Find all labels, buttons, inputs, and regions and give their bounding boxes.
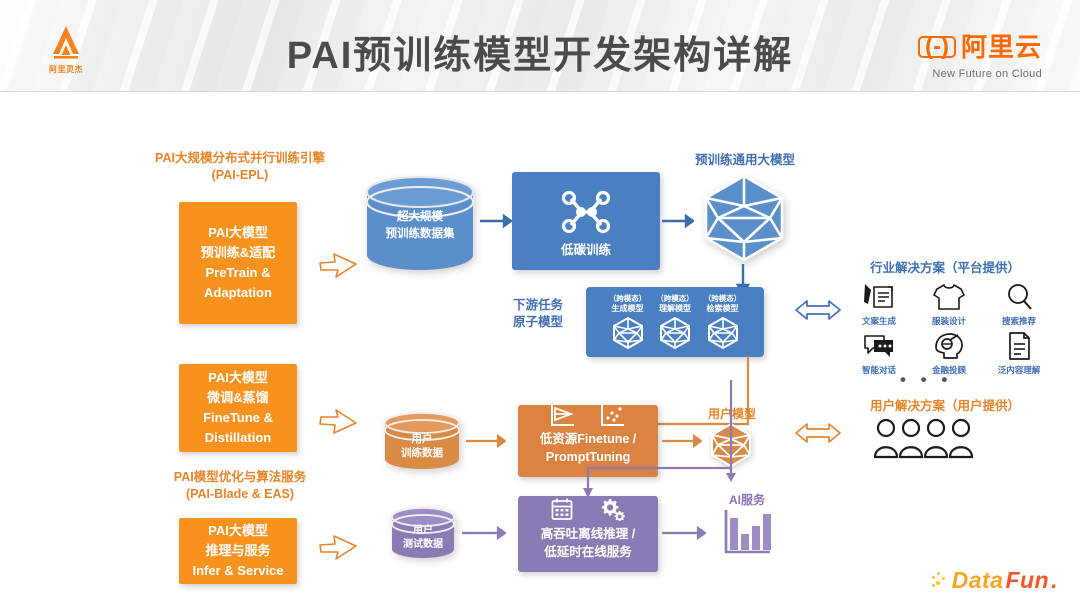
pai-finetune-box[interactable]: PAI大模型微调&蒸馏FineTune &Distillation (179, 364, 297, 452)
arrow-userdata-to-finetune (466, 434, 506, 448)
downstream-models-panel[interactable]: （跨模态） 生成模型 (586, 287, 764, 357)
pai-blade-label-line1: PAI模型优化与算法服务 (150, 469, 330, 486)
industry-item-5-label: 泛内容理解 (998, 364, 1041, 376)
ai-service-bar-chart-icon[interactable] (722, 508, 774, 556)
pai-epl-label-line1: PAI大规模分布式并行训练引擎 (150, 150, 330, 167)
downstream-model-2-name: 检索模型 (707, 304, 739, 315)
downstream-model-2[interactable]: （跨模态） 检索模型 (704, 294, 742, 351)
foundation-model-label: 预训练通用大模型 (655, 152, 835, 169)
tshirt-icon (932, 282, 966, 312)
double-arrow-icon-1 (794, 297, 842, 323)
foundation-model-polyhedron-icon[interactable] (698, 172, 790, 264)
arrow-testdata-to-serving (462, 526, 506, 540)
serving-box[interactable]: 高吞吐离线推理 /低延时在线服务 (518, 496, 658, 572)
datafun-logo: Data Fun . (932, 567, 1058, 594)
architecture-diagram: PAI大规模分布式并行训练引擎 (PAI-EPL) PAI大模型预训练&适配Pr… (0, 92, 1080, 608)
aliyun-bracket-mark: (-) (918, 36, 956, 58)
double-arrow-icon-2 (794, 420, 842, 446)
industry-item-1[interactable]: 服装设计 (920, 282, 978, 327)
aliyun-logo: (-) 阿里云 New Future on Cloud (892, 34, 1042, 86)
magnifier-icon (1002, 282, 1036, 312)
industry-item-3-label: 智能对话 (862, 364, 896, 376)
user-training-data-label: 用户训练数据 (383, 432, 461, 460)
network-nodes-icon (558, 189, 614, 235)
industry-item-2[interactable]: 搜索推荐 (990, 282, 1048, 327)
industry-item-0[interactable]: 文案生成 (850, 282, 908, 327)
user-test-data-label: 用户测试数据 (390, 524, 456, 551)
datafun-word-dot: . (1051, 567, 1058, 594)
pretrain-dataset-label: 超大规模预训练数据集 (365, 209, 475, 242)
low-carbon-training-box[interactable]: 低碳训练 (512, 172, 660, 270)
lingjie-mark-icon (46, 24, 86, 62)
datafun-sparkle-icon (932, 572, 948, 590)
pai-pretrain-box[interactable]: PAI大模型预训练&适配PreTrain &Adaptation (179, 202, 297, 324)
low-carbon-training-label: 低碳训练 (561, 241, 611, 260)
alibaba-lingjie-logo: 阿里灵杰 (34, 24, 98, 80)
downstream-model-0-tag: （跨模态） (609, 294, 647, 304)
downstream-model-2-tag: （跨模态） (704, 294, 742, 304)
hollow-arrow-icon-1 (318, 250, 360, 280)
datafun-word-fun: Fun (1005, 567, 1049, 594)
industry-item-0-label: 文案生成 (862, 315, 896, 327)
finance-head-icon (932, 331, 966, 361)
pai-infer-box[interactable]: PAI大模型推理与服务Infer & Service (179, 518, 297, 584)
industry-solutions-title: 行业解决方案（平台提供） (840, 260, 1050, 277)
downstream-model-1-tag: （跨模态） (656, 294, 694, 304)
aliyun-wordmark: 阿里云 (961, 34, 1042, 60)
arrow-training-to-foundation (662, 214, 694, 228)
industry-item-5[interactable]: 泛内容理解 (990, 331, 1048, 376)
polyhedron-icon-0 (611, 316, 645, 350)
connector-usermodel-to-serving (516, 380, 786, 510)
downstream-model-0-name: 生成模型 (612, 304, 644, 315)
downstream-task-label: 下游任务原子模型 (498, 297, 578, 331)
ai-service-label: AI服务 (692, 492, 802, 508)
pai-blade-label-line2: (PAI-Blade & EAS) (150, 486, 330, 503)
more-items-dots: • • • (900, 370, 952, 390)
downstream-model-1[interactable]: （跨模态） 理解模型 (656, 294, 694, 351)
downstream-model-0[interactable]: （跨模态） 生成模型 (609, 294, 647, 351)
aliyun-tagline: New Future on Cloud (892, 68, 1042, 80)
arrow-serving-to-aiservice (662, 526, 706, 540)
document-lines-icon (1002, 331, 1036, 361)
serving-box-label: 高吞吐离线推理 /低延时在线服务 (541, 525, 635, 563)
industry-item-2-label: 搜索推荐 (1002, 315, 1036, 327)
calendar-icon (550, 497, 574, 521)
arrow-dataset-to-training (480, 214, 512, 228)
polyhedron-icon-1 (658, 316, 692, 350)
datafun-word-data: Data (952, 567, 1004, 594)
gears-icon (600, 497, 626, 521)
user-solutions-title: 用户解决方案（用户提供） (840, 398, 1050, 415)
slide-root: 阿里灵杰 PAI预训练模型开发架构详解 (-) 阿里云 New Future o… (0, 0, 1080, 608)
chat-bubble-icon (862, 331, 896, 361)
downstream-model-1-name: 理解模型 (659, 304, 691, 315)
user-people-group-icon (873, 417, 977, 461)
industry-solutions-grid: 文案生成 服装设计 搜索推荐 (850, 282, 1048, 376)
logo-caption: 阿里灵杰 (34, 64, 98, 75)
pen-document-icon (862, 282, 896, 312)
pai-epl-label-line2: (PAI-EPL) (150, 167, 330, 184)
hollow-arrow-icon-2 (318, 407, 360, 437)
hollow-arrow-icon-3 (318, 532, 360, 562)
polyhedron-icon-2 (706, 316, 740, 350)
industry-item-1-label: 服装设计 (932, 315, 966, 327)
